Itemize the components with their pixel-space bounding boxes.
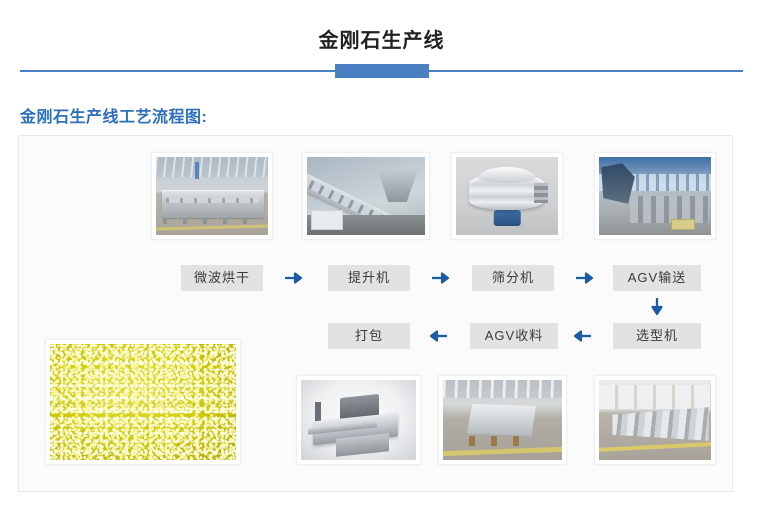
packing-machine-photo (296, 375, 421, 465)
agv-transport-line-photo (594, 152, 716, 240)
arrow-right-icon (428, 265, 454, 291)
section-subtitle: 金刚石生产线工艺流程图: (20, 103, 207, 127)
sorting-machines-photo (594, 375, 716, 465)
arrow-left-icon (425, 323, 451, 349)
title-divider-knob (335, 64, 429, 78)
agv-cart-photo (438, 375, 567, 465)
flow-step-microwave-drying[interactable]: 微波烘干 (181, 265, 263, 291)
arrow-down-icon (644, 296, 670, 320)
diamond-grit-photo (45, 339, 241, 465)
arrow-right-icon (281, 265, 307, 291)
microwave-drying-photo (151, 152, 273, 240)
flow-step-packing[interactable]: 打包 (328, 323, 410, 349)
sieving-machine-photo (451, 152, 563, 240)
flow-step-elevator[interactable]: 提升机 (328, 265, 410, 291)
elevator-conveyor-photo (302, 152, 430, 240)
page-title: 金刚石生产线 (0, 24, 763, 53)
flow-step-agv-collection[interactable]: AGV收料 (470, 323, 558, 349)
flow-step-sorting-machine[interactable]: 选型机 (613, 323, 701, 349)
arrow-right-icon (572, 265, 598, 291)
flow-step-agv-transport[interactable]: AGV输送 (613, 265, 701, 291)
page-header: 金刚石生产线 (0, 0, 763, 92)
arrow-left-icon (569, 323, 595, 349)
flow-step-sieving-machine[interactable]: 筛分机 (472, 265, 554, 291)
